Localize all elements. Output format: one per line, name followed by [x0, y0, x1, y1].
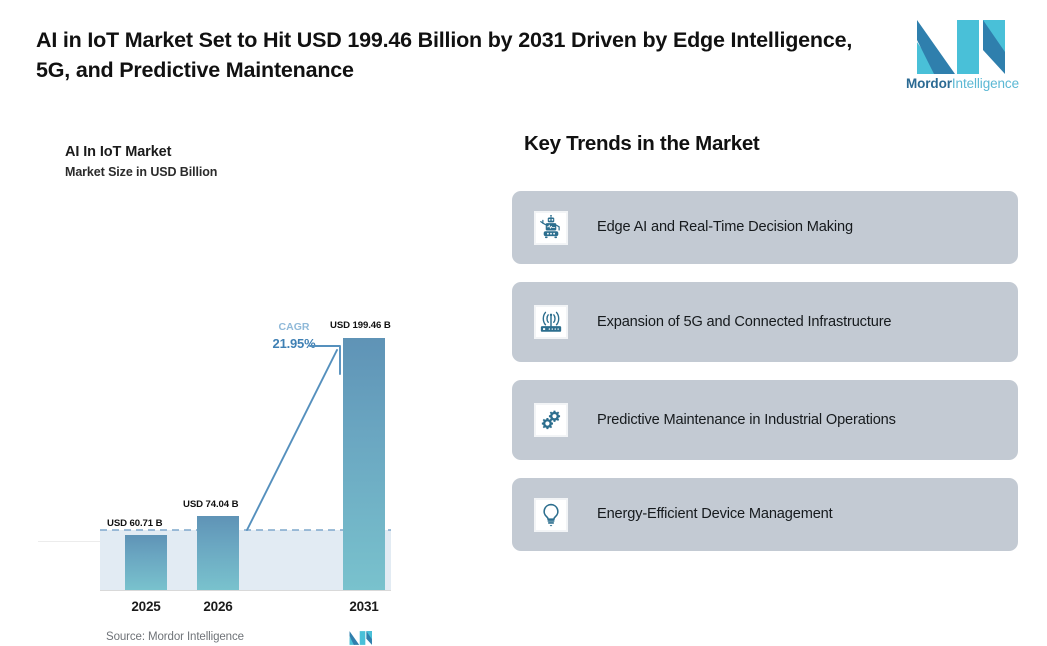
trends-heading: Key Trends in the Market	[524, 132, 759, 156]
cagr-label: CAGR	[262, 321, 326, 333]
gears-icon	[534, 403, 568, 437]
trend-list: Edge AI and Real-Time Decision Making Ex…	[512, 191, 1018, 569]
brand-wordmark: MordorIntelligence	[905, 76, 1020, 91]
mordor-intelligence-logo-icon	[911, 20, 1013, 74]
lightbulb-icon	[534, 498, 568, 532]
chart-card: AI In IoT Market Market Size in USD Bill…	[38, 118, 383, 542]
brand-word-light: Intelligence	[952, 76, 1019, 91]
growth-arrow-icon	[238, 336, 353, 536]
page-header: AI in IoT Market Set to Hit USD 199.46 B…	[0, 0, 1047, 110]
page-title: AI in IoT Market Set to Hit USD 199.46 B…	[36, 26, 856, 85]
mordor-intelligence-mark	[348, 630, 374, 646]
bar-label-2025: USD 60.71 B	[107, 518, 162, 529]
trend-card-edge-ai[interactable]: Edge AI and Real-Time Decision Making	[512, 191, 1018, 264]
trend-card-5g-infrastructure[interactable]: Expansion of 5G and Connected Infrastruc…	[512, 282, 1018, 362]
trend-label: Edge AI and Real-Time Decision Making	[597, 217, 873, 238]
bar-label-2031: USD 199.46 B	[330, 320, 391, 331]
trend-label: Predictive Maintenance in Industrial Ope…	[597, 410, 916, 431]
x-tick-2031: 2031	[334, 599, 394, 614]
chart-source: Source: Mordor Intelligence	[106, 631, 244, 643]
bar-2025	[125, 535, 167, 590]
mordor-intelligence-logo: MordorIntelligence	[905, 20, 1020, 98]
x-axis-line	[100, 590, 391, 591]
trend-card-predictive-maintenance[interactable]: Predictive Maintenance in Industrial Ope…	[512, 380, 1018, 460]
brand-word-bold: Mordor	[906, 76, 952, 91]
x-tick-2025: 2025	[116, 599, 176, 614]
trend-label: Expansion of 5G and Connected Infrastruc…	[597, 312, 911, 333]
robot-icon	[534, 211, 568, 245]
wifi-router-icon	[534, 305, 568, 339]
x-tick-2026: 2026	[188, 599, 248, 614]
bar-chart-plot: USD 60.71 B USD 74.04 B USD 199.46 B CAG…	[38, 118, 383, 542]
trend-label: Energy-Efficient Device Management	[597, 504, 853, 525]
trend-card-energy-efficiency[interactable]: Energy-Efficient Device Management	[512, 478, 1018, 551]
bar-label-2026: USD 74.04 B	[183, 499, 238, 510]
